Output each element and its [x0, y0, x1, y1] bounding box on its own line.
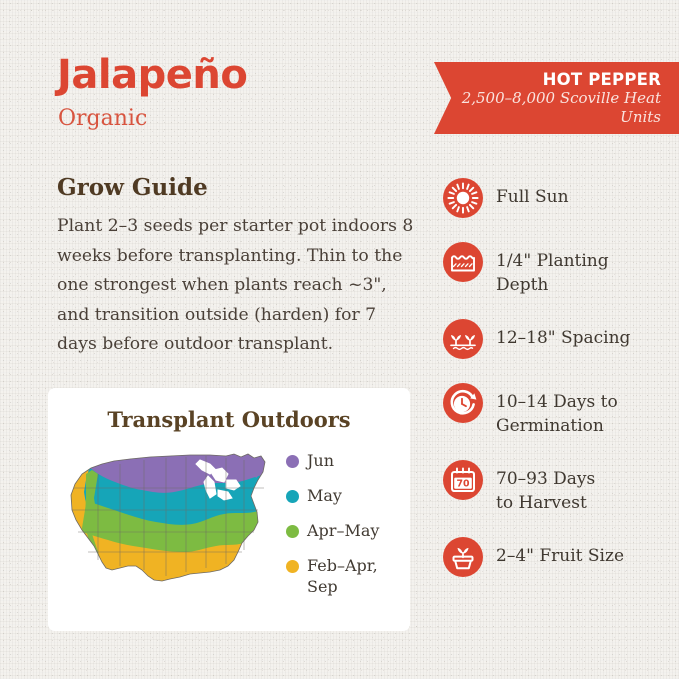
sun-icon [443, 178, 483, 218]
legend-item: Jun [286, 450, 379, 471]
legend-color-swatch-apr-may [286, 525, 299, 538]
legend-label: May [307, 485, 342, 506]
product-title: Jalapeño [57, 55, 247, 95]
feature-days-to-harvest: 70 70–93 Days to Harvest [443, 460, 675, 515]
feature-label: 12–18" Spacing [496, 319, 630, 350]
calendar-badge-value: 70 [456, 478, 470, 489]
feature-full-sun: Full Sun [443, 178, 675, 220]
clock-icon [443, 383, 483, 423]
legend-color-swatch-may [286, 490, 299, 503]
banner-scoville-range: 2,500–8,000 Scoville Heat Units [434, 89, 661, 127]
growing-requirements-list: Full Sun 1/4" Planting Depth [443, 178, 675, 601]
calendar-icon: 70 [443, 460, 483, 500]
banner-title: HOT PEPPER [543, 70, 661, 89]
feature-planting-depth: 1/4" Planting Depth [443, 242, 675, 297]
seed-packet-infographic: Jalapeño Organic Grow Guide Plant 2–3 se… [0, 0, 679, 679]
legend-item: Apr–May [286, 520, 379, 541]
map-card-title: Transplant Outdoors [48, 407, 410, 432]
feature-fruit-size: 2–4" Fruit Size [443, 537, 675, 579]
planting-depth-icon [443, 242, 483, 282]
grow-guide-body: Plant 2–3 seeds per starter pot indoors … [57, 212, 417, 360]
map-legend: Jun May Apr–May Feb–Apr, Sep [286, 450, 379, 597]
legend-item: May [286, 485, 379, 506]
feature-label: Full Sun [496, 178, 569, 209]
feature-label: 1/4" Planting Depth [496, 242, 609, 297]
feature-germination: 10–14 Days to Germination [443, 383, 675, 438]
legend-label: Apr–May [307, 520, 379, 541]
us-planting-zone-map [58, 440, 280, 605]
feature-spacing: 12–18" Spacing [443, 319, 675, 361]
legend-color-swatch-feb-apr-sep [286, 560, 299, 573]
heat-level-banner: HOT PEPPER 2,500–8,000 Scoville Heat Uni… [434, 62, 679, 134]
legend-item: Feb–Apr, Sep [286, 555, 379, 597]
grow-guide-heading: Grow Guide [57, 176, 208, 199]
feature-label: 2–4" Fruit Size [496, 537, 624, 568]
feature-label: 10–14 Days to Germination [496, 383, 618, 438]
legend-color-swatch-jun [286, 455, 299, 468]
plant-pot-icon [443, 537, 483, 577]
legend-label: Feb–Apr, Sep [307, 555, 378, 597]
legend-label: Jun [307, 450, 334, 471]
spacing-icon [443, 319, 483, 359]
feature-label: 70–93 Days to Harvest [496, 460, 595, 515]
transplant-map-card: Transplant Outdoors [48, 388, 410, 631]
product-qualifier: Organic [58, 108, 147, 130]
